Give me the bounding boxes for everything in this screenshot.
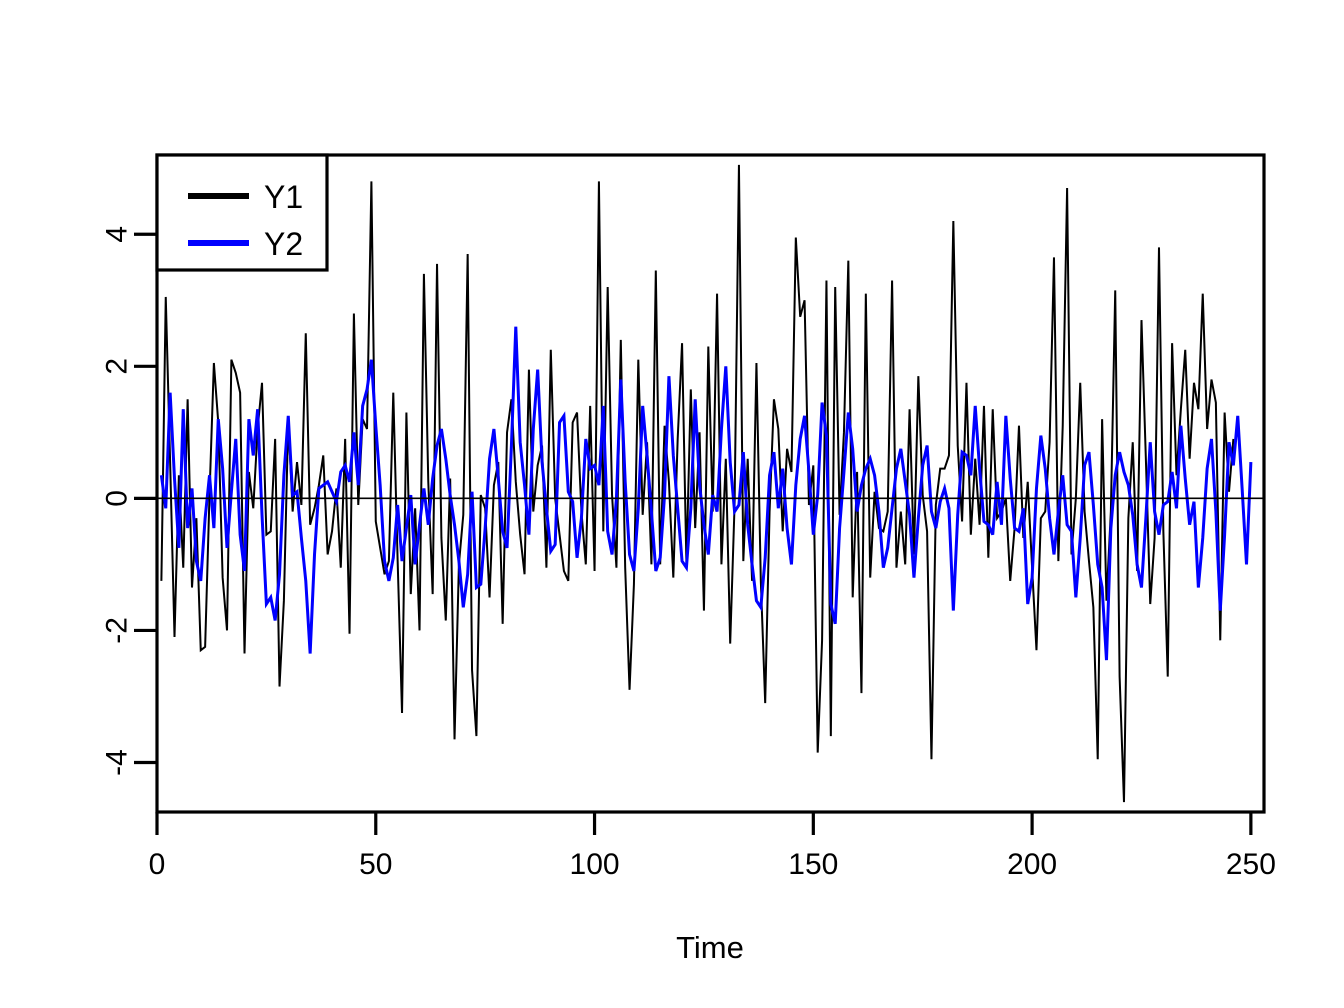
y-tick-label: -4 bbox=[101, 749, 134, 776]
legend-label-y2: Y2 bbox=[264, 226, 303, 262]
legend: Y1 Y2 bbox=[157, 155, 327, 270]
legend-label-y1: Y1 bbox=[264, 179, 303, 215]
y-tick-label: -2 bbox=[101, 617, 134, 644]
x-tick-label: 100 bbox=[570, 848, 620, 881]
time-series-plot: 420-2-4 050100150200250 Time Y1 Y2 bbox=[0, 0, 1344, 1008]
x-tick-label: 200 bbox=[1007, 848, 1057, 881]
x-tick-label: 250 bbox=[1226, 848, 1276, 881]
plot-background bbox=[0, 0, 1344, 1008]
figure-container: 420-2-4 050100150200250 Time Y1 Y2 bbox=[0, 0, 1344, 1008]
x-tick-label: 50 bbox=[359, 848, 392, 881]
y-tick-label: 4 bbox=[101, 226, 134, 243]
x-axis-title: Time bbox=[676, 930, 744, 965]
x-tick-label: 0 bbox=[149, 848, 166, 881]
x-tick-label: 150 bbox=[788, 848, 838, 881]
y-tick-label: 2 bbox=[101, 358, 134, 375]
y-tick-label: 0 bbox=[101, 490, 134, 507]
